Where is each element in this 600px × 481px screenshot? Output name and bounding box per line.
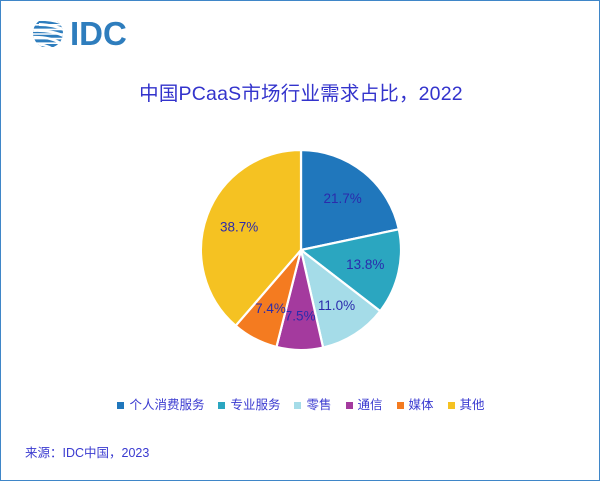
legend-item[interactable]: 专业服务: [218, 399, 280, 412]
chart-legend: 个人消费服务专业服务零售通信媒体其他: [1, 399, 600, 412]
legend-label: 通信: [358, 399, 383, 412]
legend-swatch-icon: [448, 402, 455, 409]
legend-label: 媒体: [409, 399, 434, 412]
idc-wordmark: IDC: [70, 15, 127, 52]
pie-slice-label: 21.7%: [323, 191, 361, 206]
pie-chart: 21.7%13.8%11.0%7.5%7.4%38.7%: [200, 149, 402, 351]
pie-slice-label: 13.8%: [346, 257, 384, 272]
chart-title: 中国PCaaS市场行业需求占比，2022: [1, 77, 600, 106]
legend-swatch-icon: [346, 402, 353, 409]
pie-chart-svg: 21.7%13.8%11.0%7.5%7.4%38.7%: [200, 149, 402, 351]
legend-label: 其他: [460, 399, 485, 412]
legend-item[interactable]: 媒体: [397, 399, 434, 412]
pie-slice-label: 7.5%: [285, 309, 316, 324]
pie-slice-label: 7.4%: [255, 301, 286, 316]
pie-slice-label: 38.7%: [220, 220, 258, 235]
globe-icon: [31, 18, 65, 52]
legend-item[interactable]: 通信: [346, 399, 383, 412]
legend-item[interactable]: 其他: [448, 399, 485, 412]
legend-swatch-icon: [397, 402, 404, 409]
source-note: 来源：IDC中国，2023: [25, 442, 149, 461]
legend-swatch-icon: [117, 402, 124, 409]
legend-label: 个人消费服务: [129, 399, 204, 412]
idc-logo: IDC: [29, 13, 159, 53]
legend-swatch-icon: [218, 402, 225, 409]
legend-item[interactable]: 个人消费服务: [117, 399, 204, 412]
chart-frame: IDC 中国PCaaS市场行业需求占比，2022 21.7%13.8%11.0%…: [0, 0, 600, 481]
legend-swatch-icon: [294, 402, 301, 409]
pie-slice-label: 11.0%: [318, 298, 355, 313]
legend-label: 专业服务: [230, 399, 280, 412]
legend-label: 零售: [306, 399, 331, 412]
legend-item[interactable]: 零售: [294, 399, 331, 412]
